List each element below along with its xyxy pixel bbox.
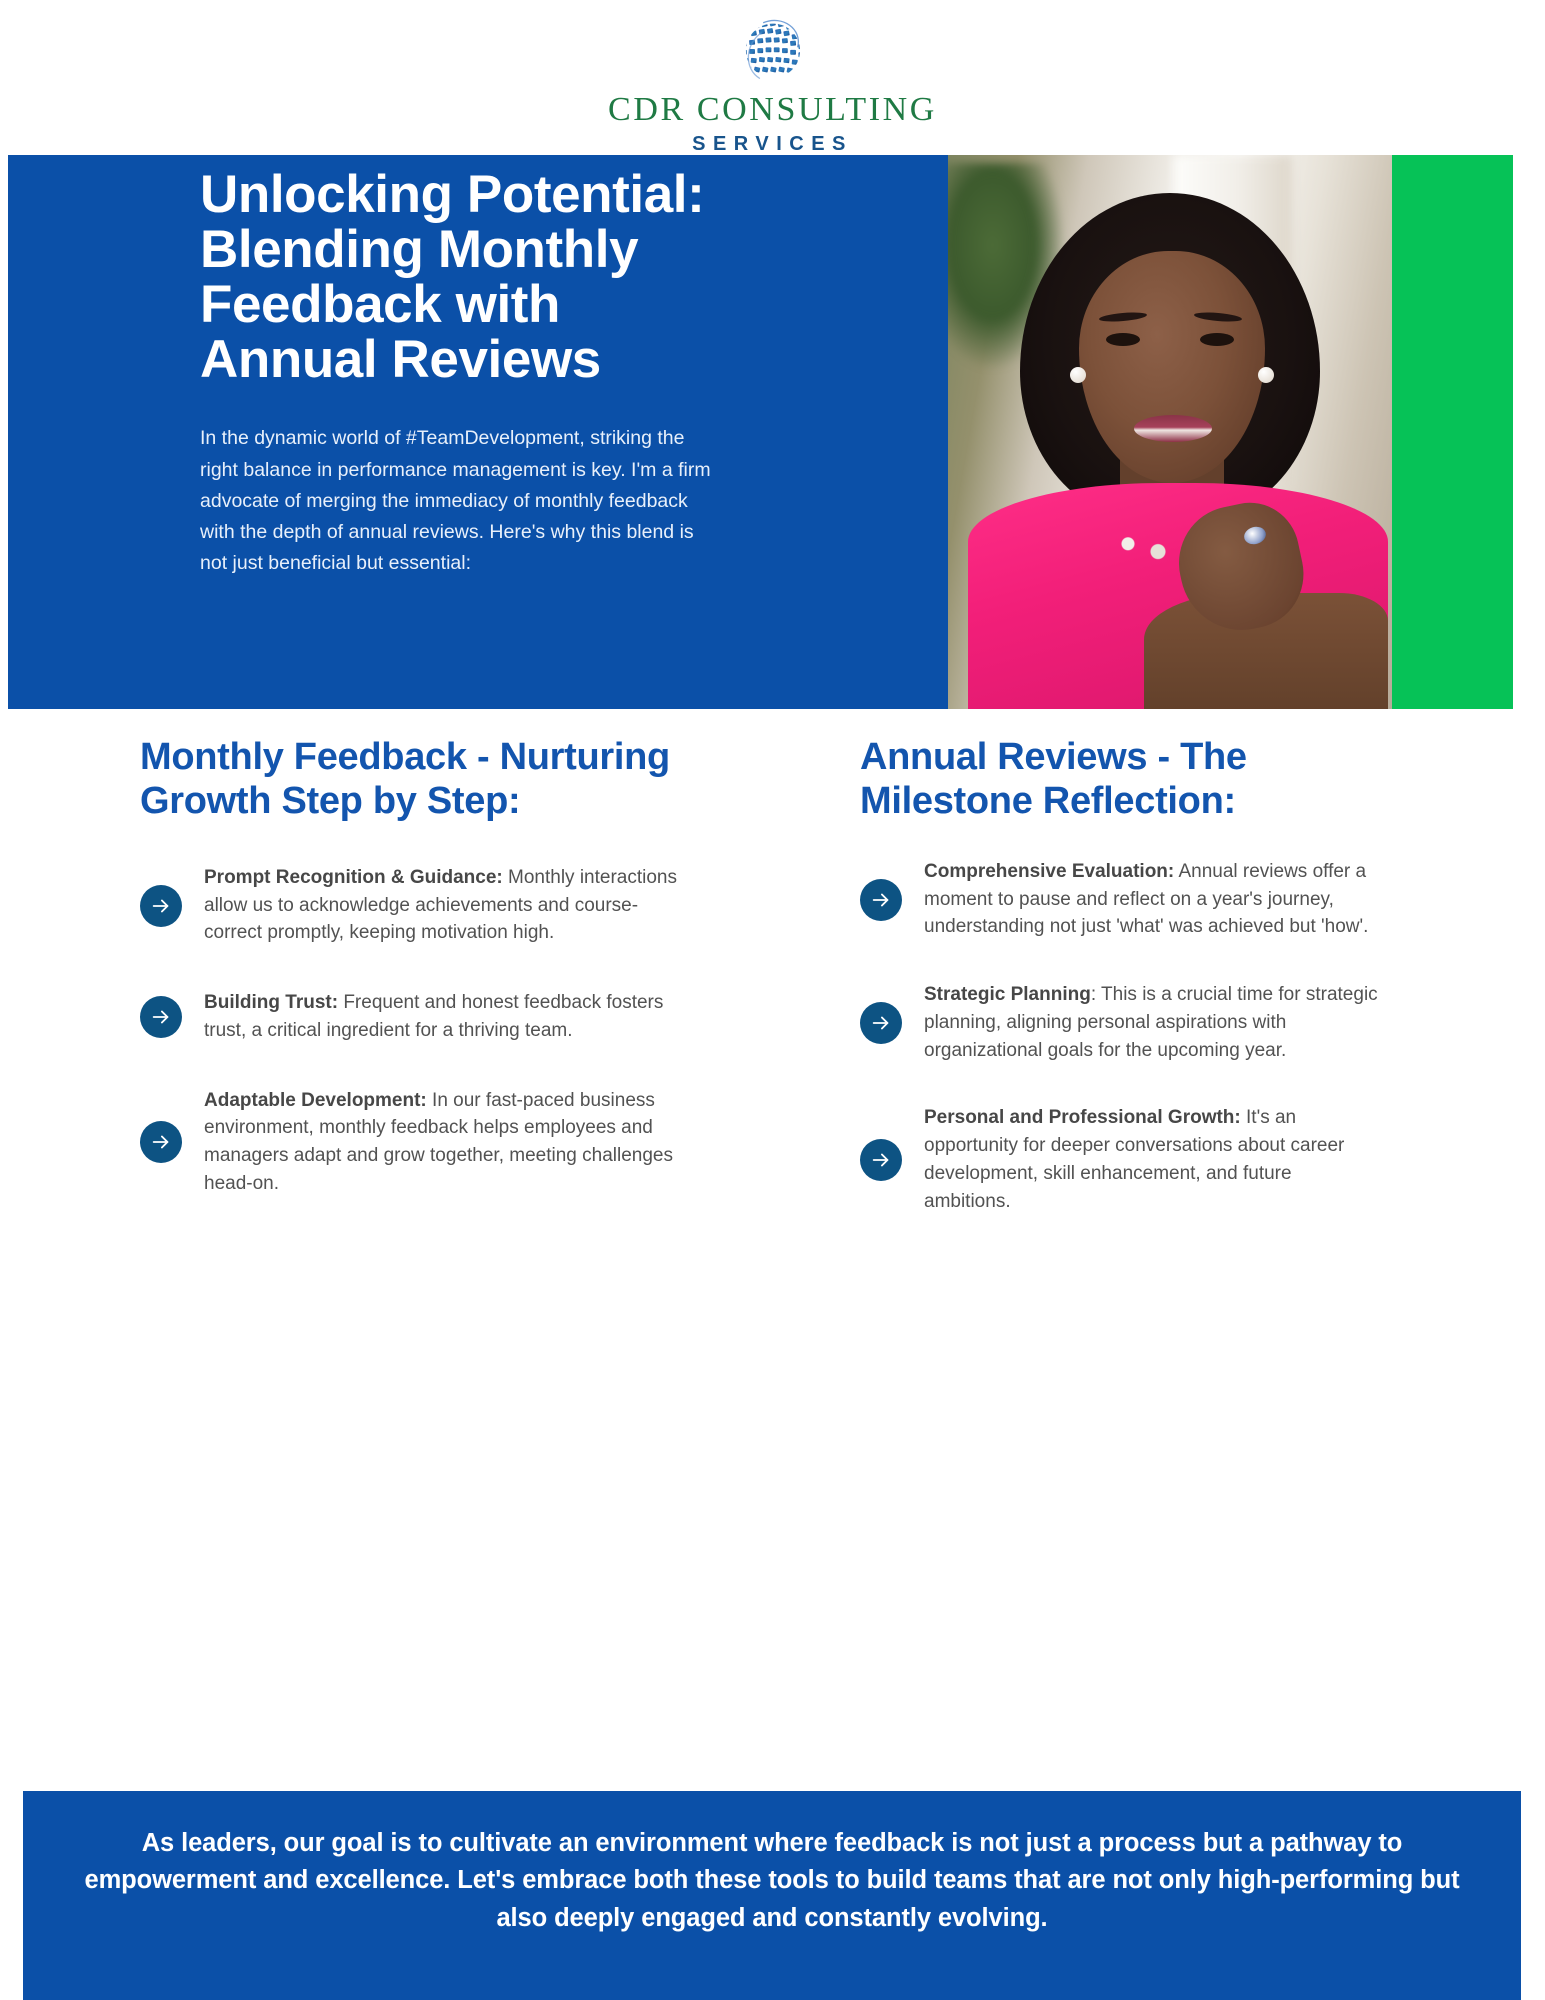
- list-item: Adaptable Development: In our fast-paced…: [140, 1087, 680, 1198]
- footer-callout-text: As leaders, our goal is to cultivate an …: [75, 1825, 1469, 1937]
- arrow-right-circle-icon: [140, 996, 182, 1038]
- list-item: Personal and Professional Growth: It's a…: [860, 1104, 1380, 1215]
- arrow-right-circle-icon: [860, 1002, 902, 1044]
- arrow-right-circle-icon: [860, 1139, 902, 1181]
- list-item: Prompt Recognition & Guidance: Monthly i…: [140, 864, 680, 947]
- column-monthly-feedback: Monthly Feedback - Nurturing Growth Step…: [140, 735, 680, 1222]
- list-item-lead: Building Trust:: [204, 992, 338, 1013]
- footer-banner: As leaders, our goal is to cultivate an …: [23, 1791, 1521, 2000]
- list-item-lead: Comprehensive Evaluation:: [924, 861, 1174, 882]
- arrow-right-circle-icon: [140, 885, 182, 927]
- list-item-text: Personal and Professional Growth: It's a…: [924, 1104, 1380, 1215]
- list-item-lead: Strategic Planning: [924, 984, 1091, 1005]
- list-item: Strategic Planning: This is a crucial ti…: [860, 981, 1380, 1064]
- list-item: Building Trust: Frequent and honest feed…: [140, 989, 680, 1044]
- brand-header: CDR CONSULTING SERVICES: [0, 0, 1545, 155]
- list-item-lead: Prompt Recognition & Guidance:: [204, 867, 503, 888]
- photo-lips: [1134, 415, 1212, 442]
- hero-title: Unlocking Potential: Blending Monthly Fe…: [200, 167, 730, 387]
- globe-mosaic-icon: [732, 8, 814, 90]
- list-item-text: Adaptable Development: In our fast-paced…: [204, 1087, 680, 1198]
- content-columns: Monthly Feedback - Nurturing Growth Step…: [0, 735, 1545, 1780]
- hero-content: Unlocking Potential: Blending Monthly Fe…: [8, 155, 948, 579]
- list-item-text: Strategic Planning: This is a crucial ti…: [924, 981, 1380, 1064]
- column-annual-reviews: Annual Reviews - The Milestone Reflectio…: [860, 735, 1380, 1239]
- infographic-page: CDR CONSULTING SERVICES Unlocking Potent…: [0, 0, 1545, 2000]
- list-item-text: Prompt Recognition & Guidance: Monthly i…: [204, 864, 680, 947]
- portrait-photo: [948, 155, 1392, 709]
- photo-earring-left: [1070, 367, 1086, 383]
- photo-eye-left: [1106, 333, 1140, 346]
- list-item-text: Comprehensive Evaluation: Annual reviews…: [924, 858, 1380, 941]
- arrow-right-circle-icon: [140, 1121, 182, 1163]
- hero-section: Unlocking Potential: Blending Monthly Fe…: [8, 155, 1513, 709]
- brand-subtitle: SERVICES: [692, 133, 853, 156]
- photo-earring-right: [1258, 367, 1274, 383]
- photo-eye-right: [1200, 333, 1234, 346]
- hero-intro-paragraph: In the dynamic world of #TeamDevelopment…: [200, 423, 720, 579]
- column-heading-monthly: Monthly Feedback - Nurturing Growth Step…: [140, 735, 680, 824]
- list-item-lead: Adaptable Development:: [204, 1090, 427, 1111]
- arrow-right-circle-icon: [860, 879, 902, 921]
- brand-name: CDR CONSULTING: [608, 92, 937, 128]
- list-item: Comprehensive Evaluation: Annual reviews…: [860, 858, 1380, 941]
- list-item-text: Building Trust: Frequent and honest feed…: [204, 989, 680, 1044]
- column-heading-annual: Annual Reviews - The Milestone Reflectio…: [860, 735, 1380, 824]
- list-item-lead: Personal and Professional Growth:: [924, 1107, 1241, 1128]
- accent-green-bar: [1392, 155, 1513, 709]
